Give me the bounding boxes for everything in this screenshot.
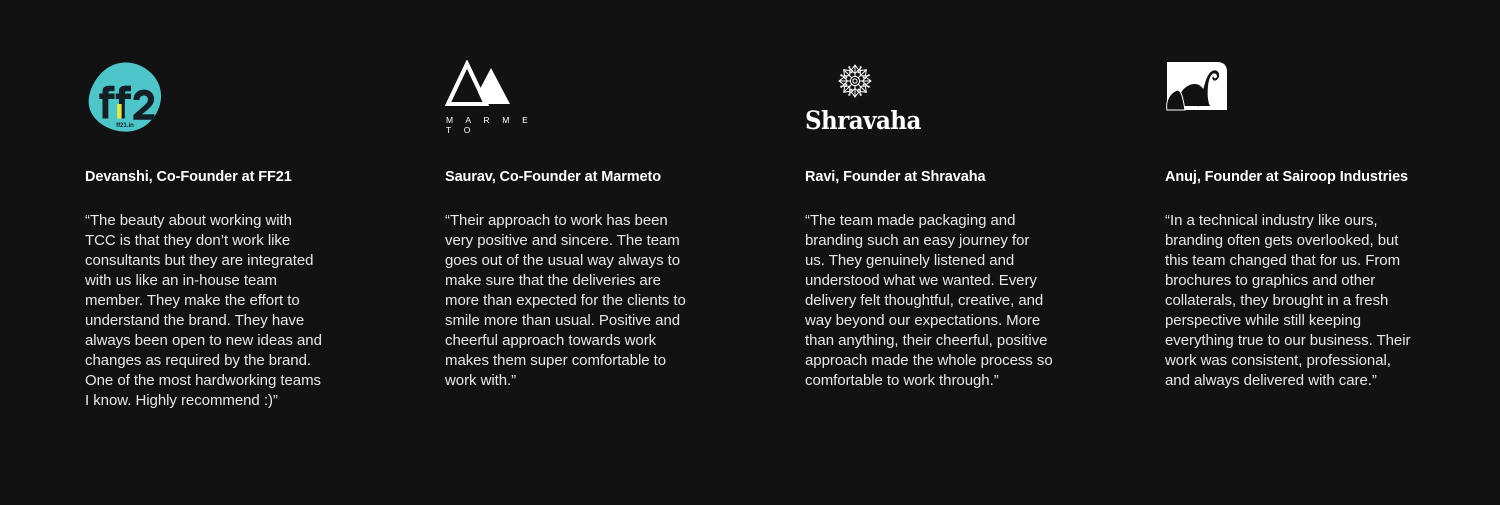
testimonial-quote: “Their approach to work has been very po… — [445, 211, 693, 391]
marmeto-logo: M A R M E T O — [445, 60, 535, 140]
testimonial-quote: “The beauty about working with TCC is th… — [85, 211, 325, 411]
ff21-logo-subtext: ff21.in — [116, 123, 134, 129]
testimonial-card-shravaha: Shravaha Ravi, Founder at Shravaha “The … — [805, 60, 1165, 505]
sairoop-elephant-icon — [1165, 60, 1231, 122]
testimonial-card-marmeto: M A R M E T O Saurav, Co-Founder at Marm… — [445, 60, 805, 505]
shravaha-wordmark: Shravaha — [805, 108, 911, 133]
shravaha-mandala-icon — [833, 60, 877, 102]
marmeto-wordmark: M A R M E T O — [446, 115, 535, 135]
logo-slot: M A R M E T O — [445, 60, 805, 160]
logo-slot: Shravaha — [805, 60, 1165, 160]
testimonial-card-ff21: ff21.in Devanshi, Co-Founder at FF21 “Th… — [85, 60, 445, 505]
shravaha-logo: Shravaha — [805, 60, 920, 142]
ff21-logo-svg: ff21.in — [85, 60, 165, 138]
testimonial-attribution: Saurav, Co-Founder at Marmeto — [445, 168, 805, 187]
marmeto-mountain-icon — [445, 60, 513, 108]
testimonial-attribution: Devanshi, Co-Founder at FF21 — [85, 168, 445, 187]
ff21-logo: ff21.in — [85, 60, 165, 138]
logo-slot — [1165, 60, 1500, 160]
testimonial-quote: “In a technical industry like ours, bran… — [1165, 211, 1413, 391]
testimonial-attribution: Ravi, Founder at Shravaha — [805, 168, 1165, 187]
testimonials-section: ff21.in Devanshi, Co-Founder at FF21 “Th… — [0, 0, 1500, 505]
sairoop-logo — [1165, 60, 1245, 138]
testimonial-attribution: Anuj, Founder at Sairoop Industries — [1165, 168, 1500, 187]
testimonial-quote: “The team made packaging and branding su… — [805, 211, 1053, 391]
testimonial-card-sairoop: Anuj, Founder at Sairoop Industries “In … — [1165, 60, 1500, 505]
logo-slot: ff21.in — [85, 60, 445, 160]
